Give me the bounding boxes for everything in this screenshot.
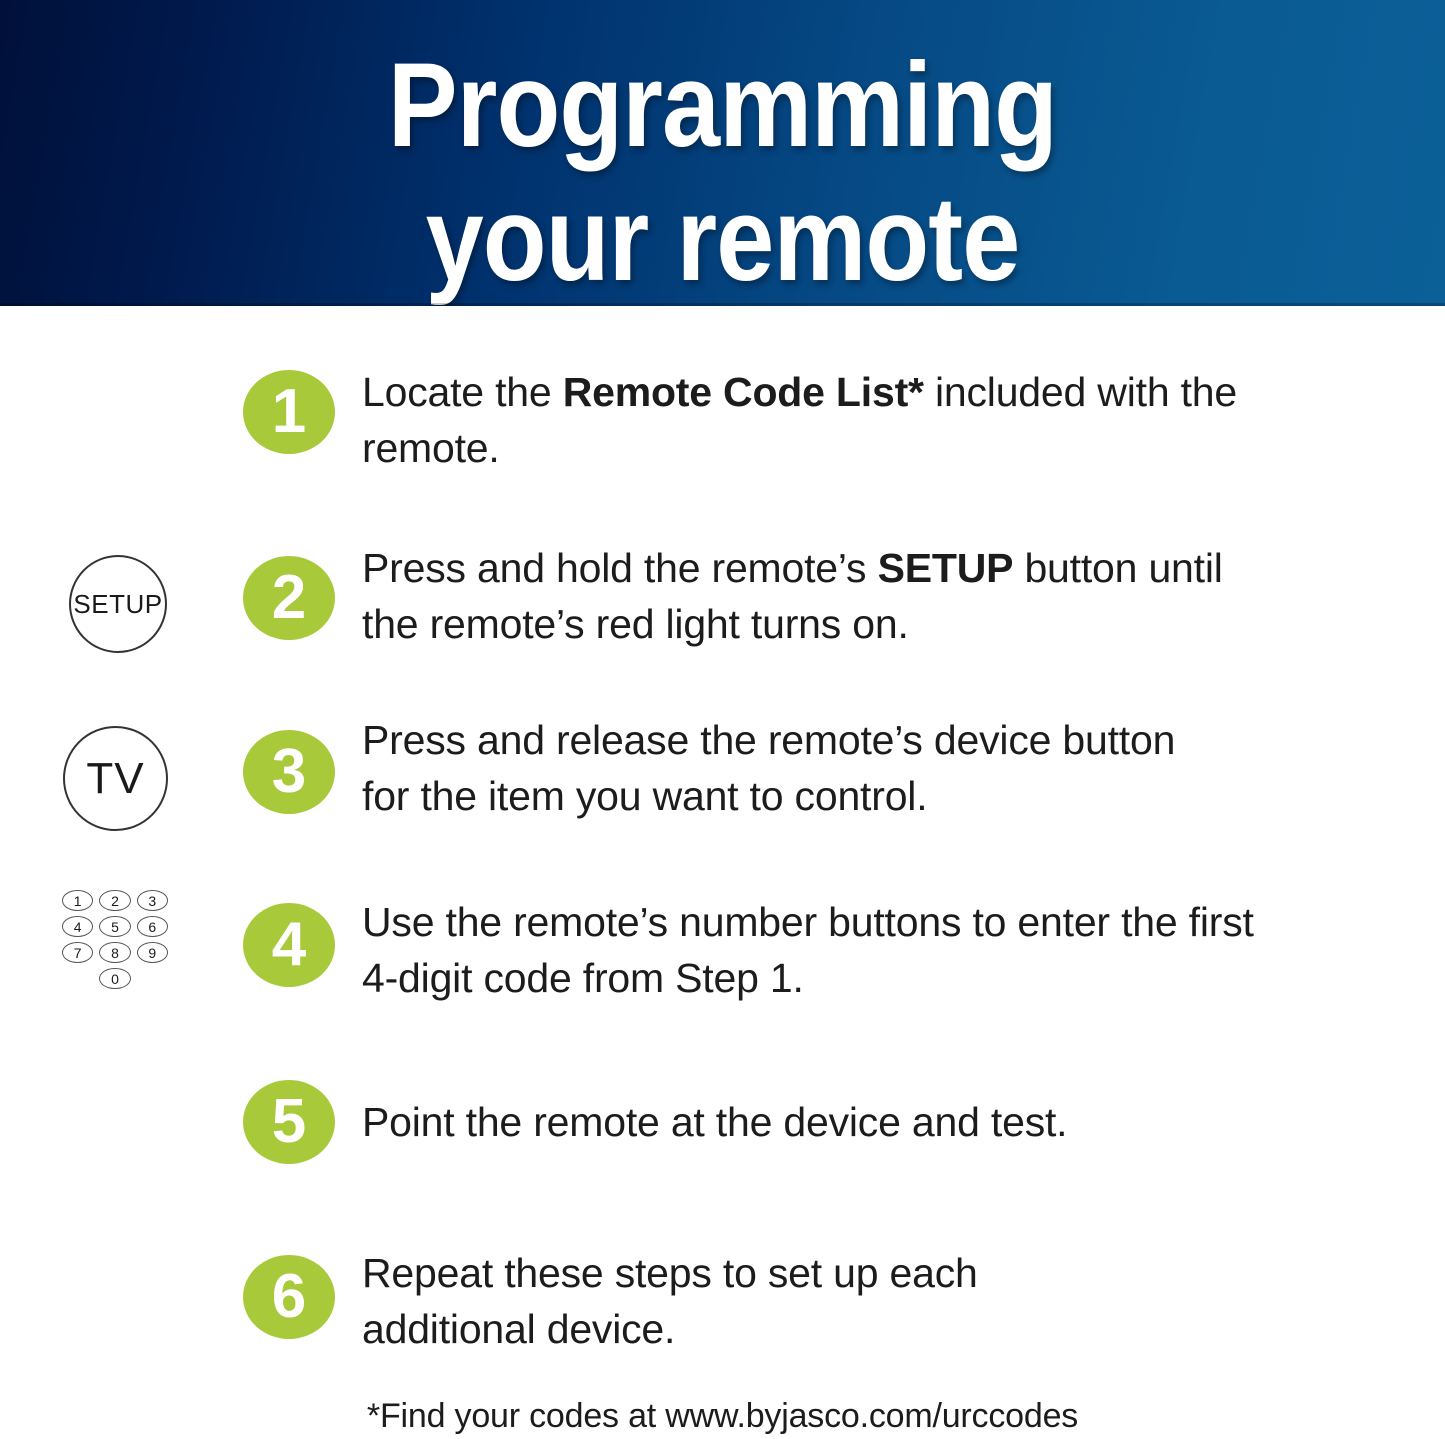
step-text-1-part-a: Locate the	[362, 369, 563, 415]
keypad-key-9: 9	[137, 942, 168, 963]
footnote-codes-url: *Find your codes at www.byjasco.com/urcc…	[0, 1397, 1445, 1436]
setup-button-icon: SETUP	[69, 555, 167, 653]
keypad-key-4: 4	[62, 916, 93, 937]
step-number-badge-2: 2	[243, 556, 335, 640]
step-number-badge-4: 4	[243, 903, 335, 987]
step-text-3: Press and release the remote’s device bu…	[362, 712, 1222, 824]
step-number-badge-3: 3	[243, 730, 335, 814]
step-text-2-part-a: Press and hold the remote’s	[362, 545, 878, 591]
step-text-2: Press and hold the remote’s SETUP button…	[362, 540, 1282, 652]
keypad-key-6: 6	[137, 916, 168, 937]
keypad-key-7: 7	[62, 942, 93, 963]
keypad-key-8: 8	[99, 942, 130, 963]
step-text-1: Locate the Remote Code List* included wi…	[362, 364, 1262, 476]
page-title: Programming your remote	[94, 38, 1351, 306]
page-header-banner: Programming your remote	[0, 0, 1445, 306]
keypad-key-0: 0	[99, 968, 130, 989]
step-text-6: Repeat these steps to set up each additi…	[362, 1245, 1122, 1357]
keypad-key-1: 1	[62, 890, 93, 911]
number-keypad-icon: 1 2 3 4 5 6 7 8 9 0	[62, 890, 168, 989]
keypad-key-3: 3	[137, 890, 168, 911]
number-keypad-grid: 1 2 3 4 5 6 7 8 9	[62, 890, 168, 963]
keypad-key-5: 5	[99, 916, 130, 937]
step-number-badge-1: 1	[243, 370, 335, 454]
keypad-key-2: 2	[99, 890, 130, 911]
tv-button-icon: TV	[63, 726, 168, 831]
step-text-2-emphasis: SETUP	[878, 545, 1014, 591]
tv-button-icon-label: TV	[86, 754, 144, 804]
step-number-badge-5: 5	[243, 1080, 335, 1164]
step-text-4: Use the remote’s number buttons to enter…	[362, 894, 1262, 1006]
step-number-badge-6: 6	[243, 1255, 335, 1339]
step-text-5: Point the remote at the device and test.	[362, 1094, 1262, 1150]
setup-button-icon-label: SETUP	[73, 589, 162, 620]
step-text-1-emphasis: Remote Code List*	[563, 369, 924, 415]
number-keypad-zero-row: 0	[62, 968, 168, 989]
